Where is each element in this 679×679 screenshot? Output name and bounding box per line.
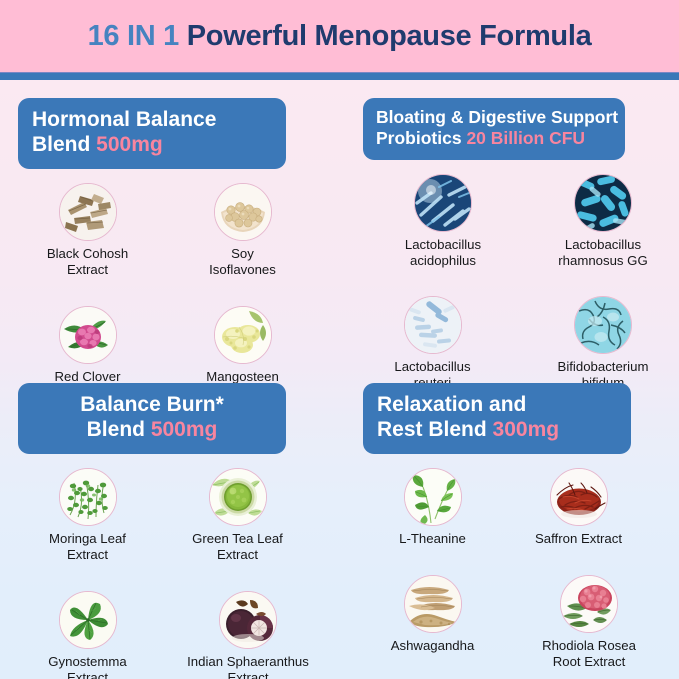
- blend-title-line: Blend 500mg: [32, 418, 272, 443]
- blend-title-text: Relaxation and: [377, 393, 526, 416]
- blend-title: Hormonal BalanceBlend 500mg: [18, 98, 286, 169]
- ingredient-item: Rhodiola Rosea Root Extract: [509, 575, 669, 670]
- green-tea-matcha-icon: [209, 468, 267, 526]
- ingredient-label: Indian Sphaeranthus Extract: [187, 654, 309, 679]
- blend-amount: 500mg: [96, 133, 163, 156]
- blend-title: Bloating & Digestive SupportProbiotics 2…: [363, 98, 625, 160]
- blend-title-line: Blend 500mg: [32, 133, 272, 158]
- ingredient-label: Soy Isoflavones: [209, 246, 276, 278]
- blend-title-line: Rest Blend 300mg: [377, 418, 617, 443]
- saffron-threads-icon: [550, 468, 608, 526]
- ingredient-label: Ashwagandha: [391, 638, 475, 654]
- blend-title-line: Probiotics 20 Billion CFU: [376, 128, 612, 149]
- mangosteen-blossom-icon: [214, 306, 272, 364]
- lactobacillus-acidophilus-micrograph-icon: [414, 174, 472, 232]
- ingredient-grid: Lactobacillus acidophilus Lactobacillus …: [363, 174, 669, 391]
- ingredient-item: Lactobacillus acidophilus: [363, 174, 523, 269]
- blend-title-text: Balance Burn*: [80, 393, 224, 416]
- ingredient-label: Lactobacillus acidophilus: [405, 237, 481, 269]
- blend-title-text: Hormonal Balance: [32, 108, 216, 131]
- ingredient-item: Soy Isoflavones: [173, 183, 312, 278]
- ingredient-item: Ashwagandha: [363, 575, 502, 670]
- ingredient-grid: L-Theanine Saffron Extract: [363, 468, 669, 670]
- lactobacillus-reuteri-micrograph-icon: [404, 296, 462, 354]
- ingredient-grid: Moringa Leaf Extract Green Tea Leaf Extr…: [18, 468, 328, 679]
- ingredient-label: Lactobacillus rhamnosus GG: [558, 237, 647, 269]
- blend-title-text: Rest Blend: [377, 418, 493, 441]
- header-banner: 16 IN 1 Powerful Menopause Formula: [0, 0, 679, 72]
- bifidobacterium-bifidum-micrograph-icon: [574, 296, 632, 354]
- title-rest: Powerful Menopause Formula: [187, 20, 592, 52]
- blend-title-line: Hormonal Balance: [32, 108, 272, 133]
- ingredient-item: Moringa Leaf Extract: [18, 468, 157, 563]
- blend-title-line: Relaxation and: [377, 393, 617, 418]
- ingredient-item: L-Theanine: [363, 468, 502, 547]
- ingredient-label: Green Tea Leaf Extract: [192, 531, 283, 563]
- black-cohosh-root-icon: [59, 183, 117, 241]
- blend-section-balance-burn: Balance Burn*Blend 500mg Moringa Leaf Ex…: [18, 383, 328, 679]
- blend-section-hormonal-balance: Hormonal BalanceBlend 500mg Black Cohosh…: [18, 98, 328, 400]
- blend-title: Balance Burn*Blend 500mg: [18, 383, 286, 454]
- blend-section-digestive-probiotics: Bloating & Digestive SupportProbiotics 2…: [363, 98, 669, 391]
- blend-title-line: Bloating & Digestive Support: [376, 107, 612, 128]
- blend-amount: 20 Billion CFU: [466, 128, 585, 148]
- tea-leaves-icon: [404, 468, 462, 526]
- blend-title-text: Bloating & Digestive Support: [376, 107, 618, 127]
- blend-section-relaxation-rest: Relaxation andRest Blend 300mg L-Theanin…: [363, 383, 669, 670]
- gynostemma-leaf-icon: [59, 591, 117, 649]
- blend-amount: 300mg: [493, 418, 560, 441]
- ingredient-item: Indian Sphaeranthus Extract: [168, 591, 328, 679]
- blend-title-text: Probiotics: [376, 128, 466, 148]
- ingredient-label: Black Cohosh Extract: [47, 246, 128, 278]
- blend-amount: 500mg: [151, 418, 218, 441]
- red-clover-flower-icon: [59, 306, 117, 364]
- ingredient-item: Saffron Extract: [509, 468, 648, 547]
- blend-title: Relaxation andRest Blend 300mg: [363, 383, 631, 454]
- ingredient-label: Rhodiola Rosea Root Extract: [542, 638, 636, 670]
- ingredient-label: Saffron Extract: [535, 531, 622, 547]
- ingredient-item: Lactobacillus reuteri: [363, 296, 502, 391]
- ingredient-item: Green Tea Leaf Extract: [168, 468, 307, 563]
- blend-title-text: Blend: [32, 133, 96, 156]
- moringa-leaf-icon: [59, 468, 117, 526]
- blend-title-text: Blend: [87, 418, 151, 441]
- rhodiola-rosea-flower-icon: [560, 575, 618, 633]
- ingredient-label: Moringa Leaf Extract: [49, 531, 126, 563]
- ingredient-item: Bifidobacterium bifidum: [523, 296, 679, 391]
- blend-title-line: Balance Burn*: [32, 393, 272, 418]
- ingredient-item: Black Cohosh Extract: [18, 183, 157, 278]
- lactobacillus-rhamnosus-micrograph-icon: [574, 174, 632, 232]
- page-title: 16 IN 1 Powerful Menopause Formula: [88, 22, 592, 51]
- title-count: 16 IN 1: [88, 20, 179, 52]
- soy-beans-bowl-icon: [214, 183, 272, 241]
- ingredient-label: Gynostemma Extract: [48, 654, 126, 679]
- ingredient-grid: Black Cohosh Extract Soy Isoflavones: [18, 183, 328, 400]
- ingredient-label: L-Theanine: [399, 531, 466, 547]
- header-divider: [0, 72, 679, 80]
- ashwagandha-root-powder-icon: [404, 575, 462, 633]
- infographic-page: 16 IN 1 Powerful Menopause Formula Hormo…: [0, 0, 679, 679]
- ingredient-item: Lactobacillus rhamnosus GG: [523, 174, 679, 269]
- indian-sphaeranthus-fruit-icon: [219, 591, 277, 649]
- ingredient-item: Gynostemma Extract: [18, 591, 157, 679]
